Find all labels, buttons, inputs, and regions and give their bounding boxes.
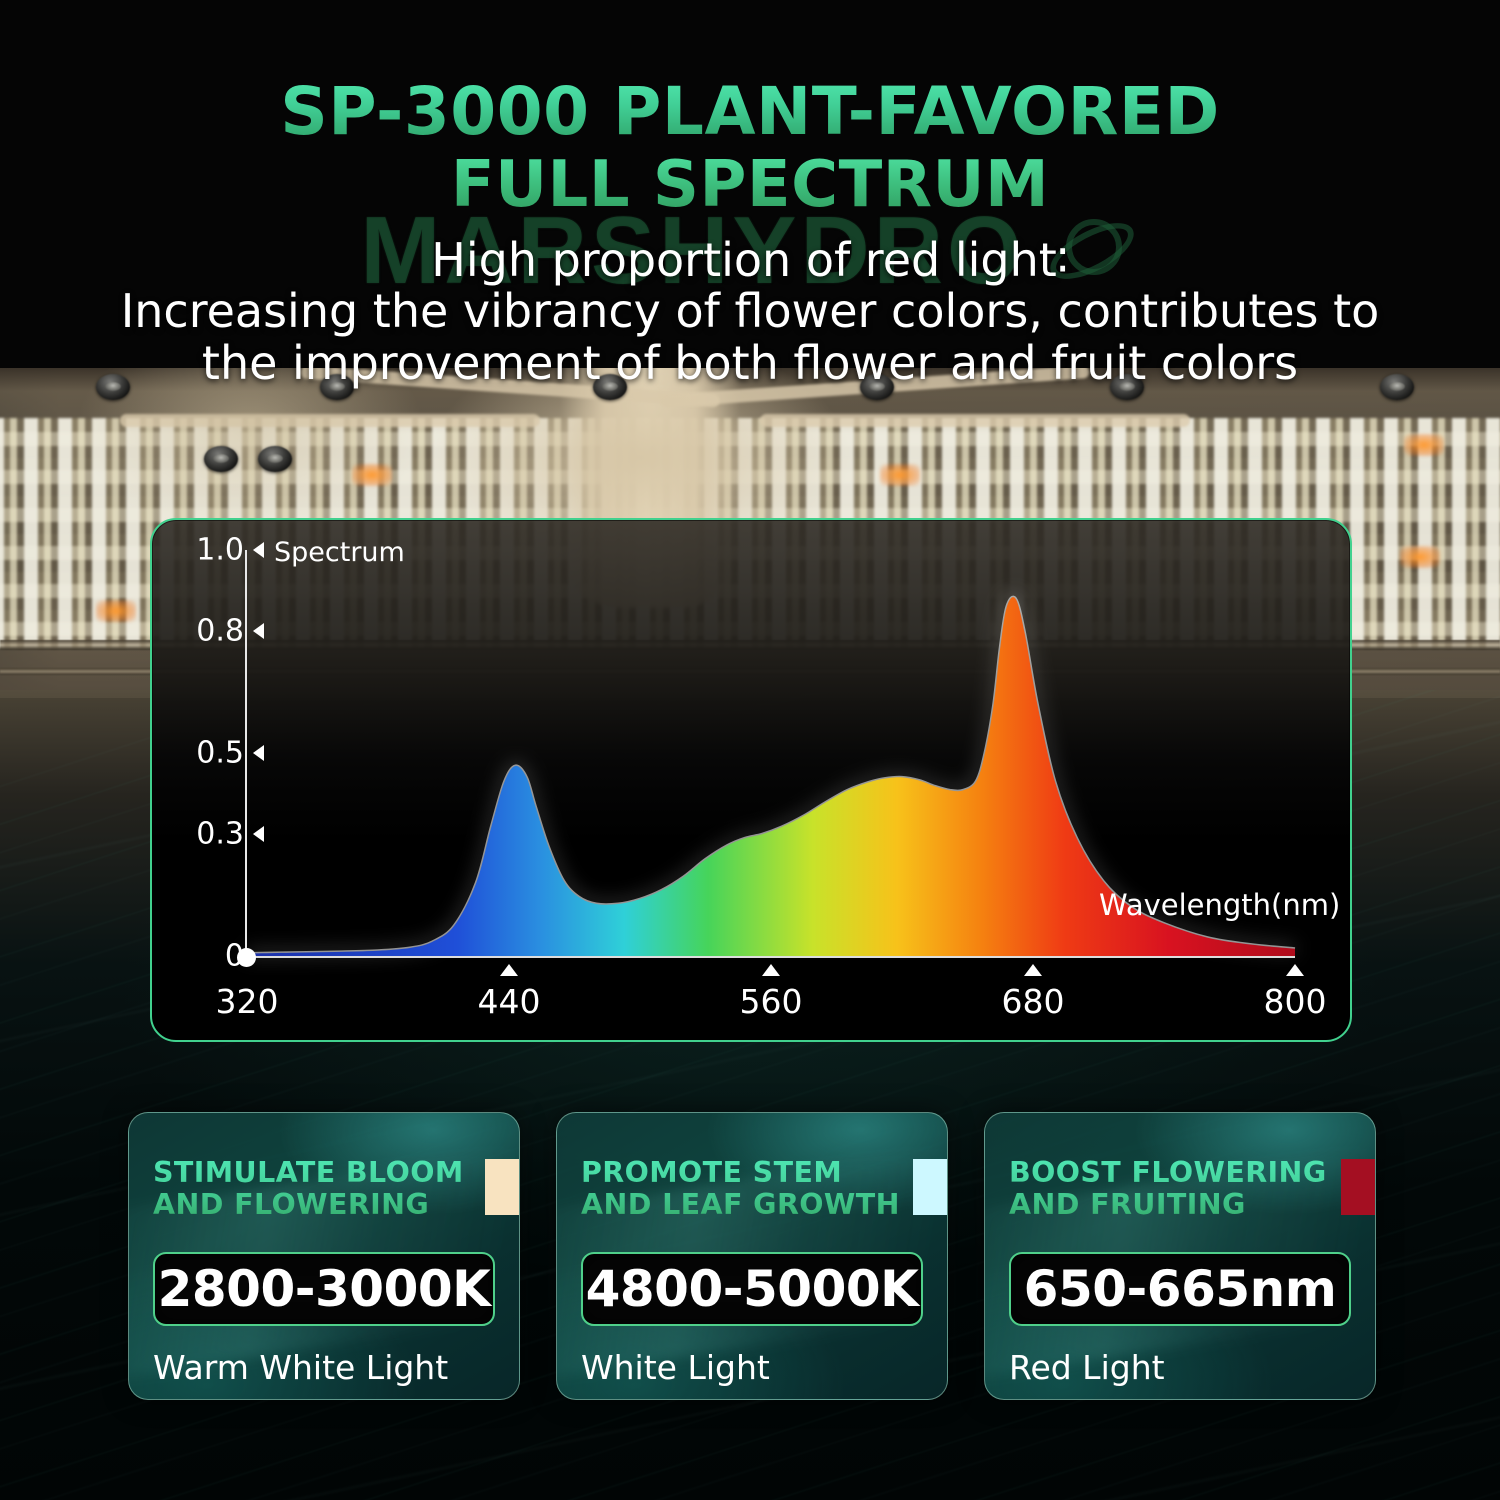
subtitle-block: High proportion of red light∶ Increasing… [0, 235, 1500, 390]
x-axis-line [245, 956, 1295, 958]
card-caption: White Light [581, 1348, 923, 1387]
spectrum-curve-svg [152, 520, 1352, 1042]
x-tick-label: 440 [478, 982, 541, 1021]
spectrum-chart-panel: Spectrum Wavelength(nm) 1.00.80.50.30 32… [150, 518, 1352, 1042]
spectrum-curve-area [152, 520, 1352, 1042]
x-tick-label: 320 [216, 982, 279, 1021]
y-tick-label: 0.8 [192, 614, 244, 649]
card-value: 2800-3000K [158, 1260, 491, 1318]
card-title-line-2: AND FRUITING [1009, 1188, 1246, 1221]
y-tick-label: 0.3 [192, 817, 244, 852]
card-value: 650-665nm [1024, 1260, 1337, 1318]
red-swatch [1341, 1159, 1375, 1215]
feature-card-cool-white[interactable]: PROMOTE STEM AND LEAF GROWTH 4800-5000K … [556, 1112, 948, 1400]
y-tick-label: 1.0 [192, 533, 244, 568]
headline-line-2: FULL SPECTRUM [0, 153, 1500, 218]
warm-white-swatch [485, 1159, 519, 1215]
card-value-box: 4800-5000K [581, 1252, 923, 1326]
subtitle-line-1: High proportion of red light∶ [0, 235, 1500, 287]
card-value-box: 2800-3000K [153, 1252, 495, 1326]
x-tick-mark [500, 964, 518, 976]
y-tick-mark [253, 623, 264, 639]
x-tick-label: 680 [1002, 982, 1065, 1021]
y-tick-mark [253, 826, 264, 842]
feature-card-red[interactable]: BOOST FLOWERING AND FRUITING 650-665nm R… [984, 1112, 1376, 1400]
subtitle-line-3: the improvement of both flower and fruit… [0, 338, 1500, 390]
y-axis-line [245, 550, 247, 958]
card-title-line-1: BOOST FLOWERING [1009, 1156, 1327, 1189]
card-value-box: 650-665nm [1009, 1252, 1351, 1326]
card-title-line-1: STIMULATE BLOOM [153, 1156, 464, 1189]
card-title: STIMULATE BLOOM AND FLOWERING [153, 1157, 495, 1222]
cool-white-swatch [913, 1159, 947, 1215]
x-tick-label: 800 [1264, 982, 1327, 1021]
y-tick-mark [253, 542, 264, 558]
x-tick-mark [762, 964, 780, 976]
spectrum-axis-label: Spectrum [274, 537, 405, 568]
feature-card-row: STIMULATE BLOOM AND FLOWERING 2800-3000K… [128, 1112, 1376, 1400]
y-tick-label: 0.5 [192, 736, 244, 771]
card-title-line-2: AND FLOWERING [153, 1188, 429, 1221]
x-tick-mark [1286, 964, 1304, 976]
card-title-line-2: AND LEAF GROWTH [581, 1188, 900, 1221]
card-value: 4800-5000K [586, 1260, 919, 1318]
card-title-line-1: PROMOTE STEM [581, 1156, 842, 1189]
y-tick-mark [253, 745, 264, 761]
card-caption: Red Light [1009, 1348, 1351, 1387]
wavelength-axis-label: Wavelength(nm) [1099, 888, 1340, 922]
subtitle-line-2: Increasing the vibrancy of flower colors… [0, 286, 1500, 338]
fixture-screw-icon [258, 446, 292, 472]
y-tick-label: 0 [192, 939, 244, 974]
poster-canvas: MARSHYDRO SP-3000 PLANT-FAVORED FULL SPE… [0, 0, 1500, 1500]
feature-card-warm-white[interactable]: STIMULATE BLOOM AND FLOWERING 2800-3000K… [128, 1112, 520, 1400]
card-title: BOOST FLOWERING AND FRUITING [1009, 1157, 1351, 1222]
headline-line-1: SP-3000 PLANT-FAVORED [0, 78, 1500, 145]
x-tick-label: 560 [740, 982, 803, 1021]
fixture-screw-icon [204, 446, 238, 472]
card-caption: Warm White Light [153, 1348, 495, 1387]
headline-block: SP-3000 PLANT-FAVORED FULL SPECTRUM High… [0, 78, 1500, 389]
card-title: PROMOTE STEM AND LEAF GROWTH [581, 1157, 923, 1222]
x-tick-mark [1024, 964, 1042, 976]
